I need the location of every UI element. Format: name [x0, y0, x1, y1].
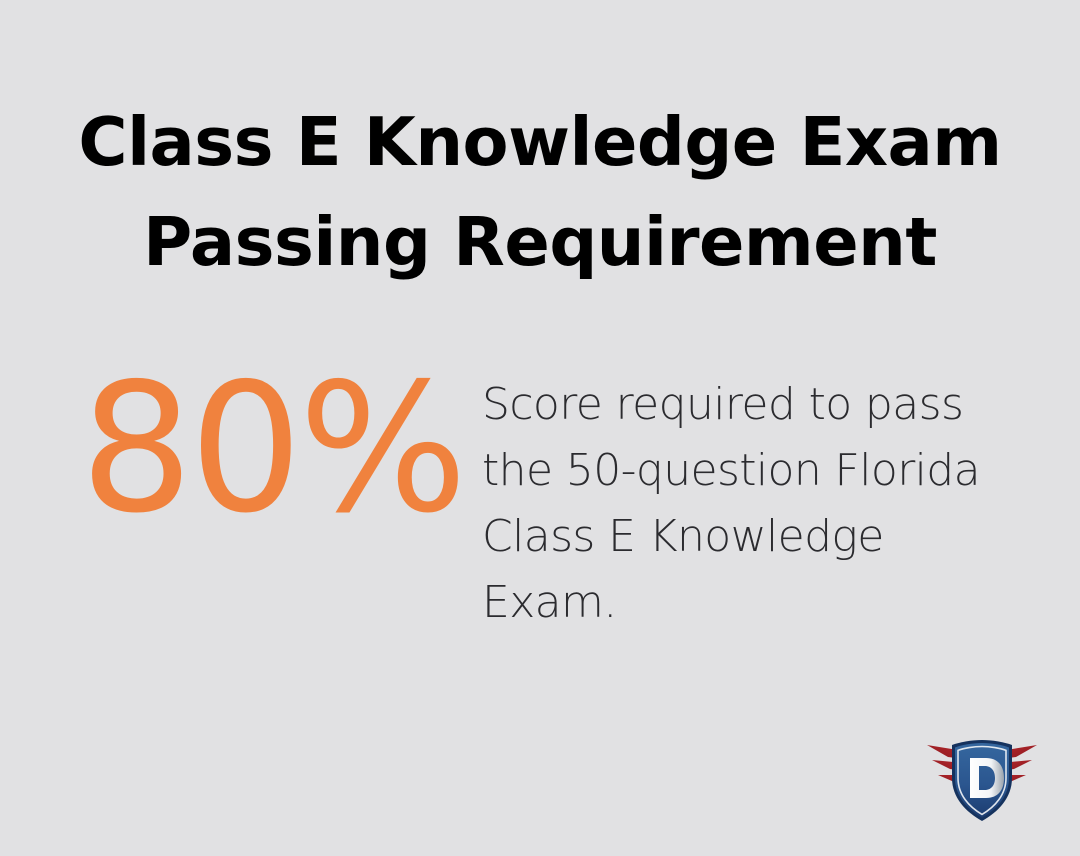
brand-logo: [918, 732, 1046, 828]
infographic-canvas: Class E Knowledge Exam Passing Requireme…: [0, 0, 1080, 856]
stat-row: 80% Score required to pass the 50-questi…: [0, 360, 1080, 660]
stat-description: Score required to pass the 50-question F…: [482, 372, 992, 636]
stat-value: 80%: [80, 360, 470, 538]
page-title-line-1: Class E Knowledge Exam: [0, 92, 1080, 192]
page-title-line-2: Passing Requirement: [0, 192, 1080, 292]
page-title: Class E Knowledge Exam Passing Requireme…: [0, 92, 1080, 292]
